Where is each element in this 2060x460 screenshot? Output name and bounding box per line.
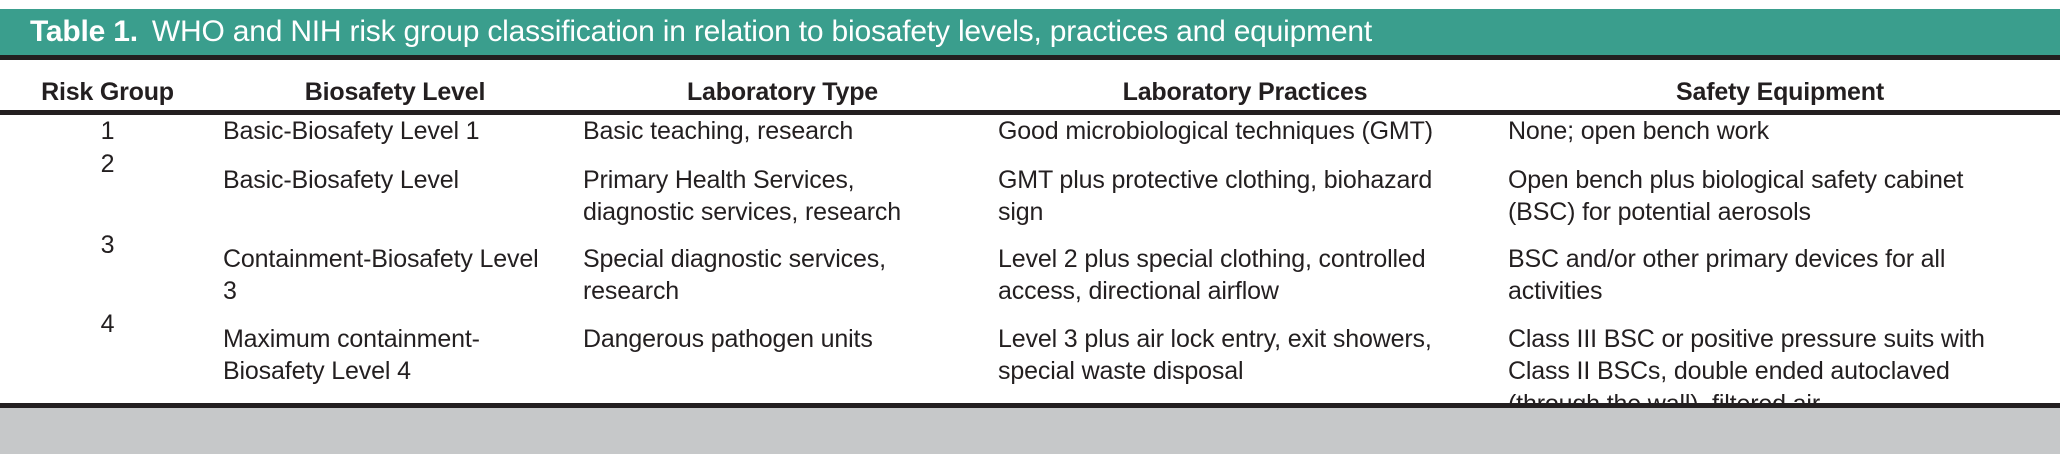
table-row: Special diagnostic services, research [575, 229, 990, 308]
column-header-risk-group: Risk Group [0, 80, 215, 105]
table-title-bar: Table 1. WHO and NIH risk group classifi… [0, 9, 2060, 55]
table-row: Basic-Biosafety Level 1 [215, 115, 575, 148]
column-header-safety-equipment: Safety Equipment [1500, 80, 2060, 105]
table-row: BSC and/or other primary devices for all… [1500, 229, 2060, 308]
table-header-row: Risk Group Biosafety Level Laboratory Ty… [0, 80, 2060, 105]
table-row: Basic-Biosafety Level [215, 148, 575, 229]
table-label: Table 1. [30, 15, 138, 49]
table-row: 1 [0, 115, 215, 148]
table-row: Basic teaching, research [575, 115, 990, 148]
column-header-biosafety-level: Biosafety Level [215, 80, 575, 105]
table-row: Good microbiological techniques (GMT) [990, 115, 1500, 148]
column-header-laboratory-practices: Laboratory Practices [990, 80, 1500, 105]
table-row: Primary Health Services, diagnostic serv… [575, 148, 990, 229]
rule-under-title [0, 55, 2060, 60]
footer-band [0, 408, 2060, 454]
table-body: 1 Basic-Biosafety Level 1 Basic teaching… [0, 115, 2060, 420]
table-row: 3 [0, 229, 215, 308]
table-row: 2 [0, 148, 215, 229]
column-header-laboratory-type: Laboratory Type [575, 80, 990, 105]
table-row: GMT plus protective clothing, biohazard … [990, 148, 1500, 229]
table-row: Open bench plus biological safety cabine… [1500, 148, 2060, 229]
table-row: Containment-Biosafety Level 3 [215, 229, 575, 308]
table-figure: Table 1. WHO and NIH risk group classifi… [0, 0, 2060, 460]
table-row: Level 2 plus special clothing, controlle… [990, 229, 1500, 308]
table-row: None; open bench work [1500, 115, 2060, 148]
table-title: WHO and NIH risk group classification in… [152, 15, 1372, 49]
